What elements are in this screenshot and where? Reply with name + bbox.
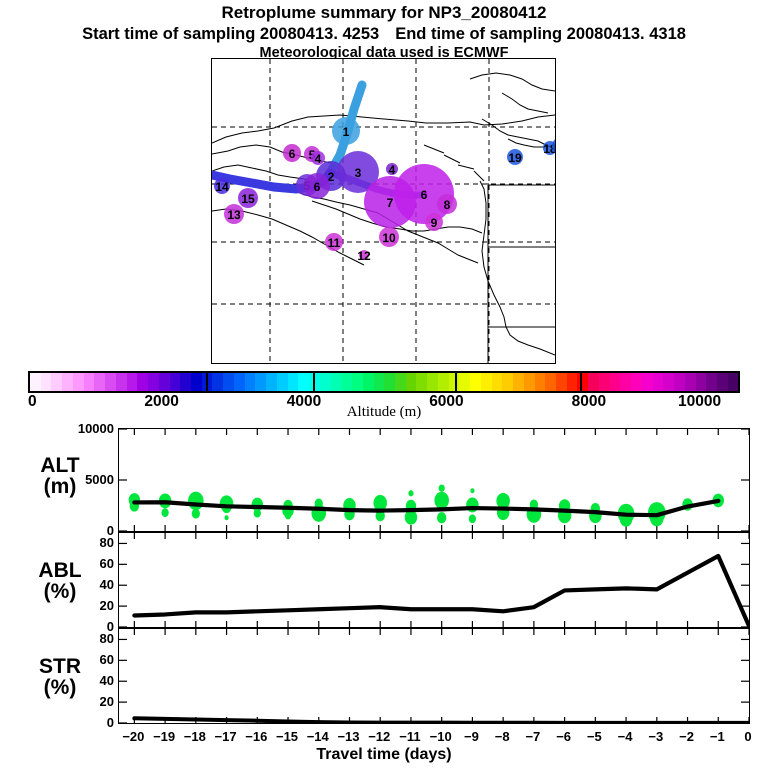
yaxis-tick-label: 80 <box>70 536 114 549</box>
start-time-label: Start time of sampling 20080413. 4253 <box>82 25 379 43</box>
alt-ytick-host: 0500010000 <box>66 428 114 532</box>
colorbar-swatch <box>94 373 105 391</box>
colorbar-swatch <box>116 373 127 391</box>
str-plot-area <box>119 629 749 723</box>
abl-svg-line <box>134 556 749 626</box>
map-marker-label: 10 <box>382 231 396 245</box>
yaxis-tick-label: 0 <box>70 716 114 729</box>
colorbar-swatch <box>191 373 202 391</box>
end-time-label: End time of sampling 20080413. 4318 <box>395 25 686 43</box>
alt-scatter-bubble <box>469 514 476 523</box>
alt-scatter-bubble <box>285 512 291 519</box>
map-marker-label: 19 <box>508 151 522 165</box>
colorbar-swatch <box>610 373 621 391</box>
colorbar-swatch <box>728 373 739 391</box>
colorbar-swatch <box>406 373 417 391</box>
colorbar-caption: Altitude (m) <box>0 404 768 421</box>
colorbar-swatch <box>535 373 546 391</box>
colorbar-swatch <box>170 373 181 391</box>
xaxis-tick-label: −19 <box>153 729 175 744</box>
page-title: Retroplume summary for NP3_20080412 <box>0 3 768 23</box>
map-marker-label: 4 <box>389 163 396 177</box>
colorbar-swatch <box>212 373 223 391</box>
alt-plot-area <box>119 429 749 531</box>
map-marker-label: 3 <box>355 166 362 180</box>
alt-scatter-bubble <box>470 488 474 493</box>
map-marker-label: 6 <box>421 188 428 202</box>
colorbar-swatch <box>223 373 234 391</box>
colorbar-swatch <box>620 373 631 391</box>
colorbar-swatch <box>105 373 116 391</box>
colorbar-swatch <box>331 373 342 391</box>
colorbar-swatch <box>717 373 728 391</box>
xaxis-tick-label: −11 <box>399 729 420 744</box>
xaxis-tick-label: −17 <box>215 729 237 744</box>
xaxis-tick-label: −2 <box>679 729 694 744</box>
xaxis-tick-label: −6 <box>556 729 571 744</box>
colorbar-swatch <box>492 373 503 391</box>
colorbar-swatch <box>41 373 52 391</box>
xaxis-tick-label: −12 <box>368 729 390 744</box>
altitude-colorbar <box>28 371 740 393</box>
colorbar-swatch <box>51 373 62 391</box>
map-marker-label: 13 <box>227 208 241 222</box>
xaxis-title: Travel time (days) <box>0 746 768 764</box>
map-day-markers: 1234564567689101112131415191820 <box>214 117 555 263</box>
xaxis-tick-label: −14 <box>307 729 329 744</box>
colorbar-swatch <box>427 373 438 391</box>
colorbar-swatch <box>266 373 277 391</box>
map-marker-label: 6 <box>289 147 296 161</box>
retroplume-map[interactable]: 1234564567689101112131415191820 <box>211 58 556 364</box>
colorbar-swatch <box>706 373 717 391</box>
colorbar-swatch <box>696 373 707 391</box>
colorbar-swatch <box>374 373 385 391</box>
header-block: Retroplume summary for NP3_20080412 Star… <box>0 0 768 62</box>
colorbar-swatch <box>459 373 470 391</box>
map-marker-label: 11 <box>328 236 341 250</box>
yaxis-tick-label: 80 <box>70 632 114 645</box>
colorbar-divider <box>313 371 315 393</box>
colorbar-swatch <box>234 373 245 391</box>
map-marker-label: 12 <box>357 249 371 263</box>
colorbar-divider <box>455 371 457 393</box>
alt-scatter-bubble <box>161 508 168 517</box>
alt-scatter-bubble <box>434 492 449 509</box>
colorbar-swatch <box>30 373 41 391</box>
colorbar-swatch <box>255 373 266 391</box>
yaxis-tick-label: 20 <box>70 695 114 708</box>
xaxis-tick-label: −20 <box>122 729 144 744</box>
colorbar-swatch <box>653 373 664 391</box>
map-marker-label: 14 <box>215 180 229 194</box>
alt-scatter-bubble <box>188 492 204 511</box>
xaxis-tick-label: −13 <box>337 729 359 744</box>
colorbar-swatch <box>84 373 95 391</box>
colorbar-divider <box>580 371 582 393</box>
colorbar-swatch <box>363 373 374 391</box>
colorbar-swatch <box>449 373 460 391</box>
map-marker-label: 1 <box>343 125 350 139</box>
xaxis-tick-label: −3 <box>648 729 663 744</box>
colorbar-swatch <box>395 373 406 391</box>
alt-chart[interactable] <box>118 428 750 532</box>
colorbar-swatch <box>298 373 309 391</box>
colorbar-swatch <box>631 373 642 391</box>
colorbar-swatch <box>127 373 138 391</box>
colorbar-swatch <box>524 373 535 391</box>
alt-scatter-bubble <box>439 484 445 491</box>
yaxis-tick-label: 60 <box>70 557 114 570</box>
colorbar-swatch <box>685 373 696 391</box>
colorbar-swatch <box>481 373 492 391</box>
colorbar-swatch <box>73 373 84 391</box>
yaxis-tick-label: 40 <box>70 578 114 591</box>
yaxis-tick-label: 20 <box>70 599 114 612</box>
colorbar-swatch <box>320 373 331 391</box>
colorbar-swatch <box>674 373 685 391</box>
alt-scatter-bubble <box>224 515 228 520</box>
colorbar-swatch <box>384 373 395 391</box>
colorbar-swatch <box>159 373 170 391</box>
map-marker-label: 9 <box>431 216 438 230</box>
colorbar-swatch <box>352 373 363 391</box>
alt-scatter-bubble <box>254 509 261 518</box>
alt-scatter-bubble <box>408 490 413 496</box>
xaxis-tick-label: −5 <box>587 729 602 744</box>
colorbar-swatch <box>62 373 73 391</box>
colorbar-swatch <box>470 373 481 391</box>
map-canvas: 1234564567689101112131415191820 <box>212 59 555 363</box>
map-marker-label: 7 <box>387 196 394 210</box>
colorbar-swatch <box>180 373 191 391</box>
alt-scatter-bubble <box>437 512 446 523</box>
colorbar-swatch <box>588 373 599 391</box>
xaxis-tick-label: −4 <box>618 729 633 744</box>
map-marker-label: 4 <box>315 152 322 166</box>
colorbar-swatch <box>556 373 567 391</box>
xaxis-tick-label: −16 <box>245 729 267 744</box>
colorbar-swatch <box>341 373 352 391</box>
str-chart[interactable] <box>118 628 750 724</box>
map-marker-label: 6 <box>314 180 321 194</box>
colorbar-swatch <box>502 373 513 391</box>
colorbar-swatch <box>663 373 674 391</box>
colorbar-swatch <box>545 373 556 391</box>
colorbar-swatch <box>599 373 610 391</box>
sampling-times: Start time of sampling 20080413. 4253End… <box>0 24 768 44</box>
xaxis-tick-labels: −20−19−18−17−16−15−14−13−12−11−10−9−8−7−… <box>118 729 750 745</box>
map-marker-label: 15 <box>241 192 255 206</box>
colorbar-swatch <box>148 373 159 391</box>
abl-chart[interactable] <box>118 532 750 628</box>
str-ytick-host: 020406080 <box>66 628 114 724</box>
colorbar-swatch <box>137 373 148 391</box>
alt-scatter-bubble <box>192 509 200 519</box>
xaxis-tick-label: −1 <box>710 729 725 744</box>
colorbar-swatch <box>277 373 288 391</box>
yaxis-tick-label: 10000 <box>70 422 114 435</box>
xaxis-tick-label: −9 <box>464 729 479 744</box>
map-marker-label: 20 <box>554 140 555 154</box>
xaxis-tick-label: 0 <box>744 729 751 744</box>
colorbar-swatch <box>438 373 449 391</box>
xaxis-tick-label: −18 <box>184 729 206 744</box>
colorbar-swatch <box>642 373 653 391</box>
colorbar-divider <box>206 371 208 393</box>
colorbar-swatch <box>513 373 524 391</box>
abl-ytick-host: 020406080 <box>66 532 114 628</box>
colorbar-swatch <box>567 373 578 391</box>
yaxis-tick-label: 5000 <box>70 473 114 486</box>
colorbar-swatch <box>245 373 256 391</box>
abl-plot-area <box>119 533 749 627</box>
colorbar-swatch <box>416 373 427 391</box>
map-marker-label: 8 <box>444 198 451 212</box>
colorbar-swatch <box>288 373 299 391</box>
xaxis-tick-label: −10 <box>430 729 452 744</box>
xaxis-tick-label: −7 <box>525 729 540 744</box>
yaxis-tick-label: 60 <box>70 653 114 666</box>
yaxis-tick-label: 40 <box>70 674 114 687</box>
xaxis-tick-label: −15 <box>276 729 298 744</box>
xaxis-tick-label: −8 <box>495 729 510 744</box>
